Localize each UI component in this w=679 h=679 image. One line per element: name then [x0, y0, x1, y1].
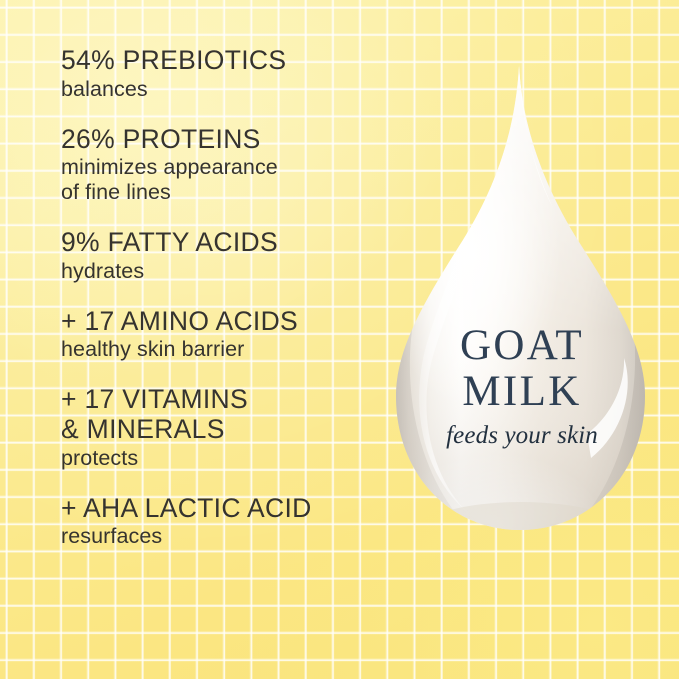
list-item: 9% FATTY ACIDS hydrates [61, 228, 391, 284]
ingredient-list: 54% PREBIOTICS balances 26% PROTEINS min… [61, 46, 391, 549]
list-item: 54% PREBIOTICS balances [61, 46, 391, 102]
milk-droplet-graphic: GOAT MILK feeds your skin [381, 62, 663, 548]
ingredient-title: 9% FATTY ACIDS [61, 228, 391, 258]
infographic-canvas: 54% PREBIOTICS balances 26% PROTEINS min… [0, 0, 679, 679]
brand-word-milk: MILK [381, 370, 663, 413]
ingredient-description: balances [61, 77, 391, 102]
list-item: + 17 AMINO ACIDS healthy skin barrier [61, 307, 391, 363]
brand-tagline: feeds your skin [381, 422, 663, 450]
ingredient-description: healthy skin barrier [61, 337, 391, 362]
list-item: + AHA LACTIC ACID resurfaces [61, 494, 391, 550]
ingredient-title: + 17 VITAMINS & MINERALS [61, 385, 391, 444]
ingredient-title: + AHA LACTIC ACID [61, 494, 391, 524]
milk-droplet-icon [381, 62, 663, 548]
ingredient-description: resurfaces [61, 524, 391, 549]
ingredient-description: hydrates [61, 259, 391, 284]
list-item: + 17 VITAMINS & MINERALS protects [61, 385, 391, 470]
brand-word-goat: GOAT [381, 324, 663, 367]
ingredient-title: 54% PREBIOTICS [61, 46, 391, 76]
droplet-shading [381, 62, 663, 548]
ingredient-title: + 17 AMINO ACIDS [61, 307, 391, 337]
list-item: 26% PROTEINS minimizes appearance of fin… [61, 125, 391, 206]
ingredient-description: protects [61, 446, 391, 471]
ingredient-description: minimizes appearance of fine lines [61, 155, 391, 205]
ingredient-title: 26% PROTEINS [61, 125, 391, 155]
